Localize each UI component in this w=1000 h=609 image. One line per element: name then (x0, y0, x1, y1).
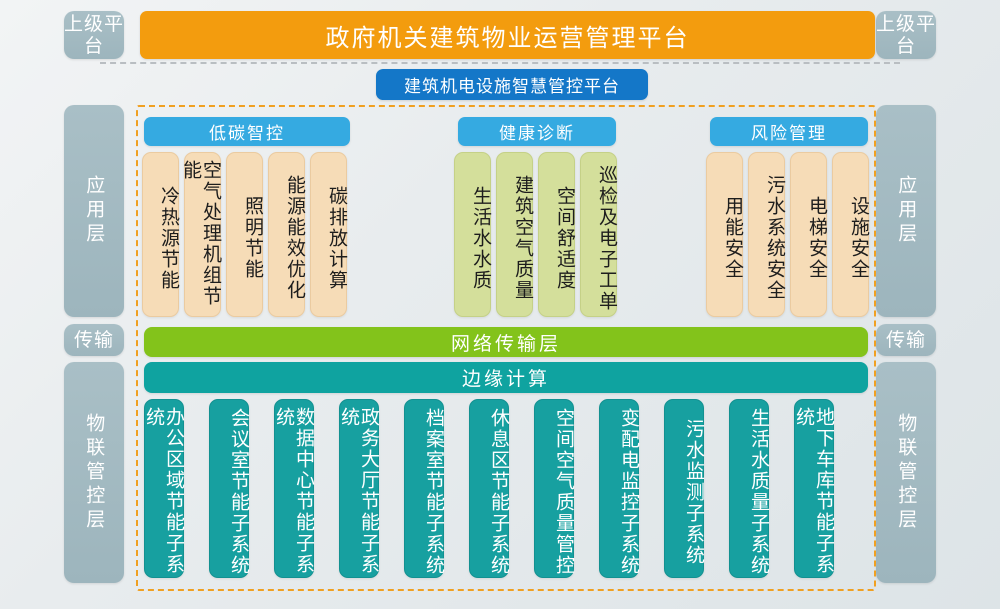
rail-right-iot-control-layer: 物联管控层 (876, 362, 936, 583)
app-card-carbon-emission-calculation[interactable]: 碳排放计算 (310, 152, 347, 317)
rail-left-iot-control-layer: 物联管控层 (64, 362, 124, 583)
iot-card-domestic-water-quality[interactable]: 生活水质量子系统 (729, 399, 769, 578)
app-card-energy-efficiency-optimization[interactable]: 能源能效优化 (268, 152, 305, 317)
network-transmission-bar: 网络传输层 (144, 327, 868, 357)
app-card-ahu-energy-saving[interactable]: 空气处理机组节能 (184, 152, 221, 317)
app-card-lighting-energy-saving[interactable]: 照明节能 (226, 152, 263, 317)
iot-card-archive-room-energy-saving[interactable]: 档案室节能子系统 (404, 399, 444, 578)
app-card-inspection-and-e-work-order[interactable]: 巡检及电子工单 (580, 152, 617, 317)
iot-card-meeting-room-energy-saving[interactable]: 会议室节能子系统 (209, 399, 249, 578)
rail-right-transmission: 传输 (876, 324, 936, 356)
app-card-building-air-quality[interactable]: 建筑空气质量 (496, 152, 533, 317)
iot-card-data-center-energy-saving[interactable]: 数据中心节能子系统 (274, 399, 314, 578)
iot-card-government-hall-energy-saving[interactable]: 政务大厅节能子系统 (339, 399, 379, 578)
iot-card-space-air-quality-control[interactable]: 空间空气质量管控 (534, 399, 574, 578)
group-title-risk-management: 风险管理 (710, 117, 868, 146)
app-card-cold-heat-source-saving[interactable]: 冷热源节能 (142, 152, 179, 317)
rail-right-application-layer: 应用层 (876, 105, 936, 317)
group-title-low-carbon: 低碳智控 (144, 117, 350, 146)
architecture-diagram: 上级平台 应用层 传输 物联管控层 上级平台 应用层 传输 物联管控层 政府机关… (0, 0, 1000, 609)
iot-card-sewage-monitoring[interactable]: 污水监测子系统 (664, 399, 704, 578)
group-title-health-diagnosis: 健康诊断 (458, 117, 616, 146)
iot-card-underground-garage-energy-saving[interactable]: 地下车库节能子系统 (794, 399, 834, 578)
iot-card-office-area-energy-saving[interactable]: 办公区域节能子系统 (144, 399, 184, 578)
rail-right-superior-platform: 上级平台 (876, 11, 936, 59)
app-card-sewage-system-safety[interactable]: 污水系统安全 (748, 152, 785, 317)
rail-left-superior-platform: 上级平台 (64, 11, 124, 59)
page-title: 政府机关建筑物业运营管理平台 (140, 11, 875, 59)
rail-left-transmission: 传输 (64, 324, 124, 356)
header-divider (100, 62, 900, 64)
subtitle-pill: 建筑机电设施智慧管控平台 (376, 69, 648, 100)
edge-computing-bar: 边缘计算 (144, 362, 868, 393)
app-card-domestic-water-quality[interactable]: 生活水水质 (454, 152, 491, 317)
iot-card-rest-area-energy-saving[interactable]: 休息区节能子系统 (469, 399, 509, 578)
app-card-energy-use-safety[interactable]: 用能安全 (706, 152, 743, 317)
rail-left-application-layer: 应用层 (64, 105, 124, 317)
app-card-elevator-safety[interactable]: 电梯安全 (790, 152, 827, 317)
app-card-facility-safety[interactable]: 设施安全 (832, 152, 869, 317)
app-card-space-comfort[interactable]: 空间舒适度 (538, 152, 575, 317)
iot-card-power-distribution-monitoring[interactable]: 变配电监控子系统 (599, 399, 639, 578)
